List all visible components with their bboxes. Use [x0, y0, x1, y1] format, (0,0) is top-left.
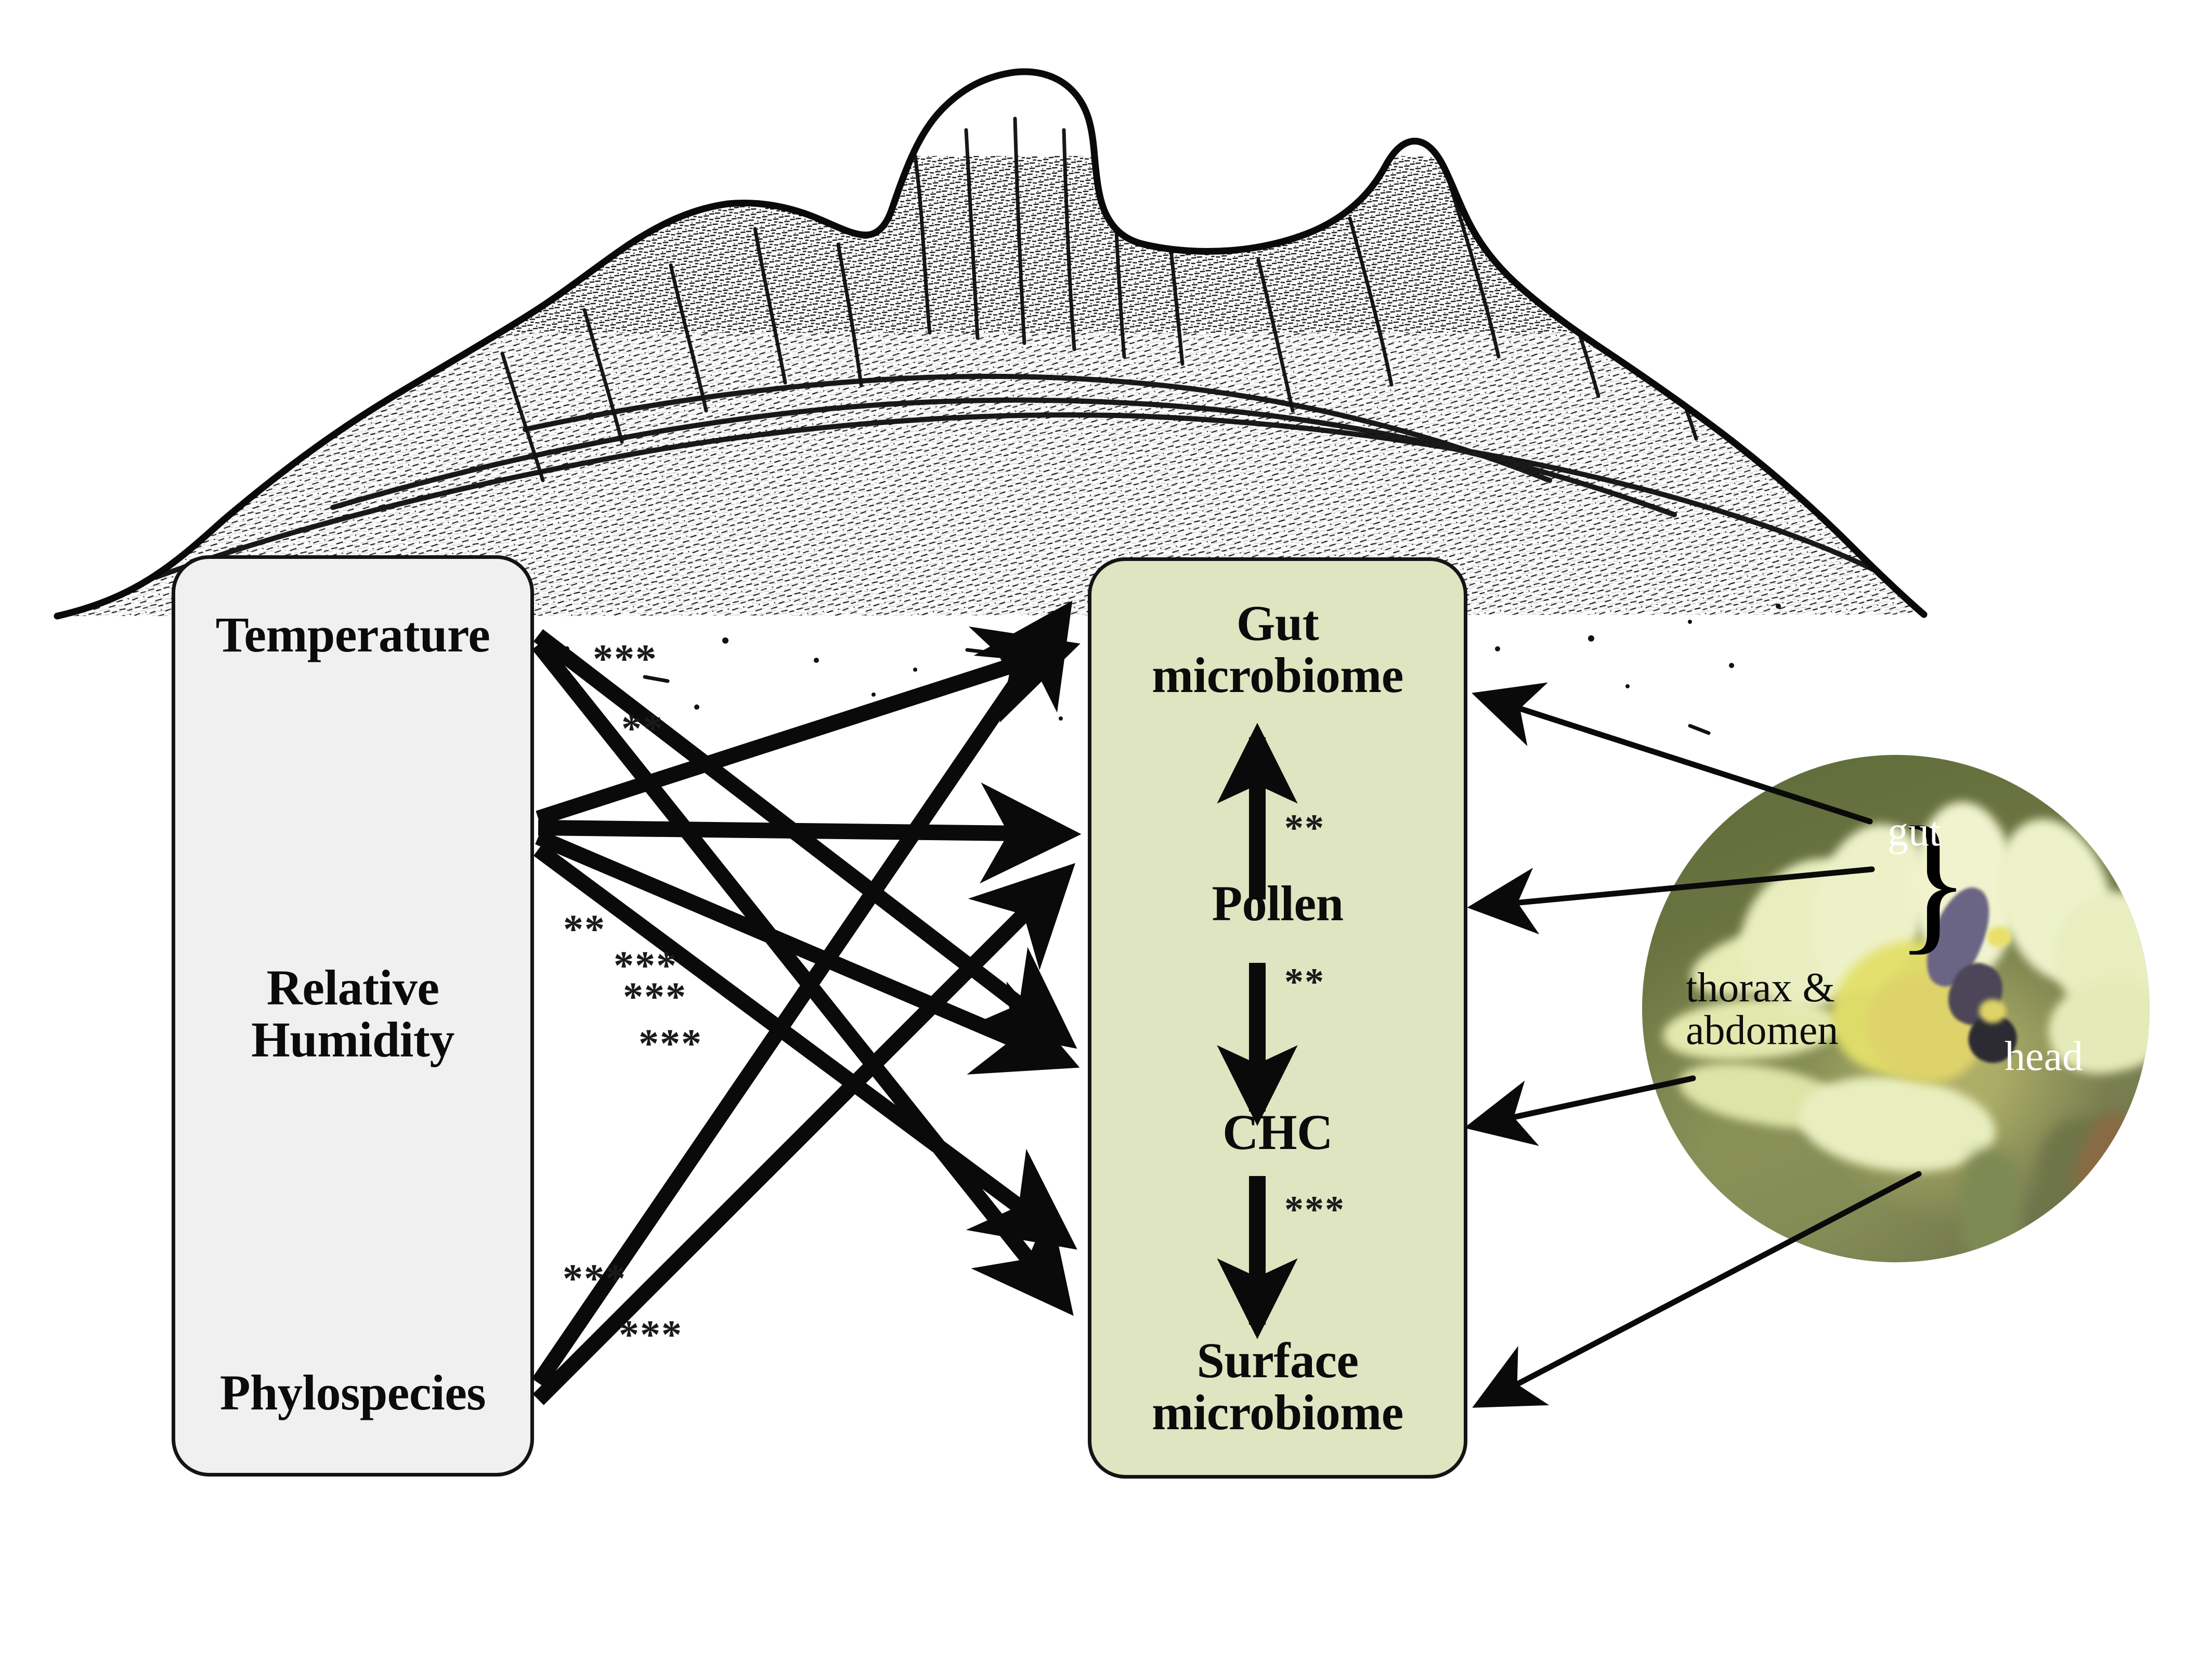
response-node-gut-microbiome: Gut microbiome — [1152, 597, 1403, 701]
photo-label-gut: gut — [1888, 811, 1941, 854]
significance-temperature-to-chc: *** — [593, 638, 657, 679]
significance-relative-humidity-to-gut-microbiome: ** — [563, 909, 606, 949]
predictor-node-phylospecies: Phylospecies — [220, 1367, 486, 1419]
significance-pollen-to-gut-microbiome: ** — [1284, 809, 1325, 847]
significance-phylospecies-to-gut-microbiome: *** — [563, 1258, 627, 1299]
response-panel: Gut microbiome Pollen CHC Surface microb… — [1088, 557, 1467, 1479]
path-relative-humidity-to-surface-microbiome — [538, 850, 1061, 1237]
photo-label-thorax-abdomen: thorax & abdomen — [1686, 967, 1838, 1052]
significance-chc-to-surface-microbiome: *** — [1284, 1191, 1345, 1229]
predictor-node-relative-humidity: Relative Humidity — [251, 962, 454, 1066]
photo-label-head: head — [2005, 1036, 2083, 1078]
significance-relative-humidity-to-chc: *** — [623, 976, 687, 1017]
figure-canvas: Temperature Relative Humidity Phylospeci… — [0, 0, 2212, 1659]
significance-relative-humidity-to-surface-microbiome: *** — [639, 1023, 702, 1064]
significance-temperature-to-surface-microbiome: ** — [621, 708, 664, 749]
response-node-chc: CHC — [1222, 1106, 1333, 1158]
predictor-node-temperature: Temperature — [216, 609, 490, 661]
response-node-surface-microbiome: Surface microbiome — [1152, 1335, 1403, 1439]
predictor-panel: Temperature Relative Humidity Phylospeci… — [172, 555, 534, 1477]
significance-phylospecies-to-pollen: *** — [619, 1314, 683, 1355]
response-node-pollen: Pollen — [1212, 878, 1344, 930]
significance-pollen-to-chc: ** — [1284, 963, 1325, 1001]
path-relative-humidity-to-pollen — [538, 828, 1061, 834]
